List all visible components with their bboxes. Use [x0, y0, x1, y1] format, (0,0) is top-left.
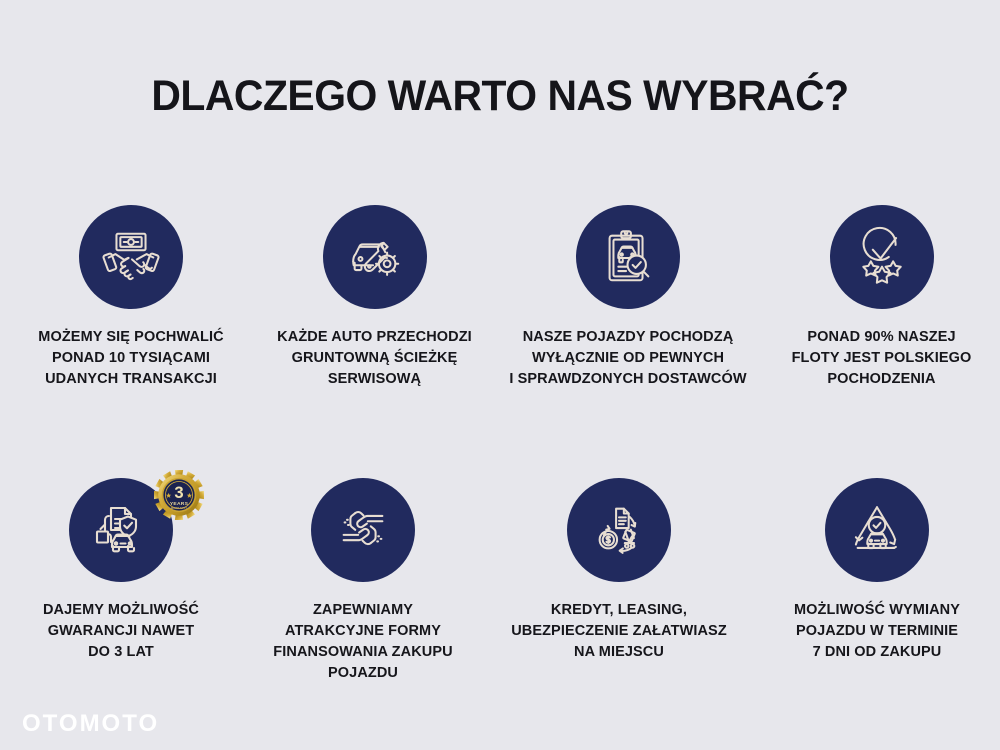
- feature-item-credit-leasing: KREDYT, LEASING, UBEZPIECZENIE ZAŁATWIAS…: [484, 478, 754, 684]
- clipboard-car-magnifier-icon: [597, 226, 659, 288]
- badge-number: 3: [174, 483, 183, 502]
- features-row-2: 3 YEARS WARRANTY DAJEMY MOŻLIWOŚĆ GWARAN…: [0, 478, 1000, 684]
- feature-item-transactions: MOŻEMY SIĘ POCHWALIĆ PONAD 10 TYSIĄCAMI …: [6, 205, 256, 390]
- feature-item-service-path: KAŻDE AUTO PRZECHODZI GRUNTOWNĄ ŚCIEŻKĘ …: [256, 205, 493, 390]
- icon-circle: [79, 205, 183, 309]
- icon-circle: [576, 205, 680, 309]
- feature-caption: MOŻEMY SIĘ POCHWALIĆ PONAD 10 TYSIĄCAMI …: [6, 327, 256, 390]
- feature-caption: KAŻDE AUTO PRZECHODZI GRUNTOWNĄ ŚCIEŻKĘ …: [260, 327, 490, 390]
- page-title: DLACZEGO WARTO NAS WYBRAĆ?: [25, 72, 975, 121]
- otomoto-logo: OTOMOTO: [22, 710, 159, 738]
- icon-circle: [567, 478, 671, 582]
- icon-circle-wrap: [576, 205, 680, 309]
- feature-item-exchange: MOŻLIWOŚĆ WYMIANY POJAZDU W TERMINIE 7 D…: [754, 478, 1000, 684]
- recycle-car-check-icon: [846, 499, 908, 561]
- document-coin-cart-cycle-icon: [588, 499, 650, 561]
- badge-sublabel: WARRANTY: [171, 506, 187, 510]
- promo-banner: DLACZEGO WARTO NAS WYBRAĆ?: [0, 0, 1000, 750]
- icon-circle-wrap: [825, 478, 929, 582]
- features-row-1: MOŻEMY SIĘ POCHWALIĆ PONAD 10 TYSIĄCAMI …: [0, 205, 1000, 390]
- icon-circle: [830, 205, 934, 309]
- icon-circle-wrap: [323, 205, 427, 309]
- icon-circle-wrap: 3 YEARS WARRANTY: [69, 478, 173, 582]
- feature-caption: PONAD 90% NASZEJ FLOTY JEST POLSKIEGO PO…: [767, 327, 997, 390]
- feature-item-trusted-suppliers: NASZE POJAZDY POCHODZĄ WYŁĄCZNIE OD PEWN…: [493, 205, 763, 390]
- icon-circle: [323, 205, 427, 309]
- icon-circle-wrap: [311, 478, 415, 582]
- badge-label: YEARS: [170, 501, 189, 507]
- feature-caption: KREDYT, LEASING, UBEZPIECZENIE ZAŁATWIAS…: [484, 600, 754, 663]
- handshake-money-icon: [100, 226, 162, 288]
- hand-document-shield-car-icon: [89, 498, 153, 562]
- feature-item-warranty: 3 YEARS WARRANTY DAJEMY MOŻLIWOŚĆ GWARAN…: [0, 478, 246, 684]
- feature-item-polish-fleet: PONAD 90% NASZEJ FLOTY JEST POLSKIEGO PO…: [763, 205, 1000, 390]
- hands-money-exchange-icon: [332, 499, 394, 561]
- icon-circle-wrap: [79, 205, 183, 309]
- check-stars-icon: [851, 226, 913, 288]
- feature-item-financing: ZAPEWNIAMY ATRAKCYJNE FORMY FINANSOWANIA…: [240, 478, 486, 684]
- icon-circle-wrap: [567, 478, 671, 582]
- car-wrench-gear-icon: [344, 226, 406, 288]
- icon-circle-wrap: [830, 205, 934, 309]
- feature-caption: ZAPEWNIAMY ATRAKCYJNE FORMY FINANSOWANIA…: [248, 600, 478, 684]
- icon-circle: [825, 478, 929, 582]
- feature-caption: NASZE POJAZDY POCHODZĄ WYŁĄCZNIE OD PEWN…: [493, 327, 763, 390]
- feature-caption: MOŻLIWOŚĆ WYMIANY POJAZDU W TERMINIE 7 D…: [762, 600, 992, 663]
- icon-circle: [311, 478, 415, 582]
- feature-caption: DAJEMY MOŻLIWOŚĆ GWARANCJI NAWET DO 3 LA…: [0, 600, 246, 663]
- warranty-3-years-badge: 3 YEARS WARRANTY: [153, 469, 205, 521]
